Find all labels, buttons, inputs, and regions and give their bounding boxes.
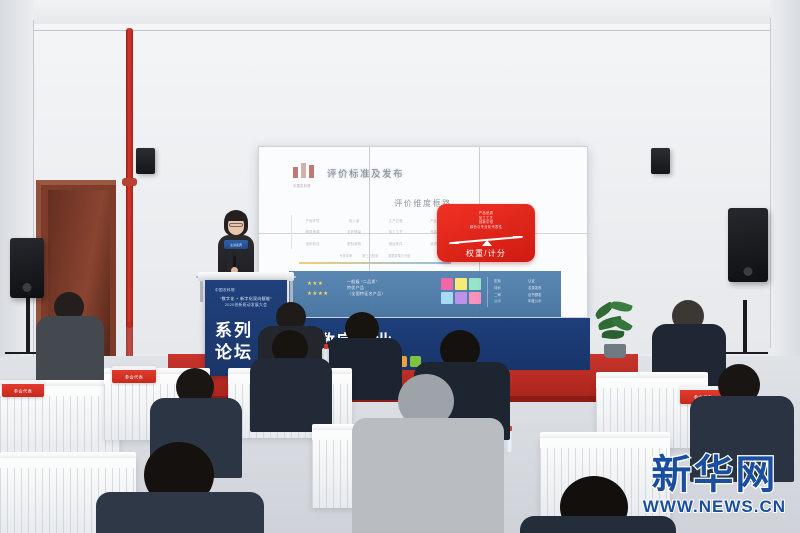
slide-footnotes: 专家评审 第三方检测 数据采集与分析 (291, 253, 459, 258)
table-cell: 品种特性 (292, 238, 334, 249)
slide-logo-icon (293, 165, 319, 182)
band-divider (487, 277, 488, 307)
table-cell: 储运条件 (375, 238, 417, 249)
floor-speaker-left (10, 238, 44, 298)
microphone-flag-text: 主讲嘉宾 (225, 243, 247, 247)
swatch (469, 292, 481, 304)
band-text: （全国特征名产品） (347, 291, 386, 297)
plant-pot (604, 344, 626, 358)
process-item: 定标 (494, 279, 522, 285)
wall-corner-right (770, 18, 771, 348)
swatch (441, 278, 453, 290)
wall-corner-left (33, 20, 34, 360)
slide-logo-subtext: 中国农科院 (293, 183, 311, 188)
process-item: 年度公示 (528, 299, 556, 305)
slide-criteria-table: 产地环境 投入品 生产过程 产品质量 种质资源 农药残留 加工工艺 包装标识 品… (291, 215, 459, 249)
standpipe-valve (122, 178, 137, 186)
name-placard: 参会代表 (112, 366, 156, 383)
podium-headline-2: 论坛 (215, 338, 253, 363)
slide-accent-underline (299, 262, 451, 264)
footnote: 专家评审 (340, 253, 353, 258)
presenter-glasses (229, 223, 243, 227)
table-cell: 投入品 (334, 215, 376, 226)
wall-speaker-right (651, 148, 670, 174)
table-cell: 生产过程 (375, 215, 417, 226)
podium-line-2: 2020创新驱动发展大会 (205, 303, 287, 308)
process-item: 证书颁发 (528, 293, 556, 299)
podium-line-1: “数字化 + 新字化双向赋能” (205, 296, 287, 302)
process-item: 名录发布 (528, 286, 556, 292)
table-cell: 产地环境 (292, 215, 334, 226)
process-item: 二审 (494, 293, 522, 299)
table-cell: 种质资源 (292, 226, 334, 237)
swatch (441, 292, 453, 304)
color-swatch-grid (441, 278, 481, 304)
slide-title: 评价标准及发布 (327, 166, 404, 180)
speaker-stand-pole (743, 300, 747, 354)
swatch (455, 292, 467, 304)
process-item: 认证 (528, 279, 556, 285)
podium-logo-text: 中国农科院 (215, 288, 235, 293)
swatch (469, 278, 481, 290)
wall-speaker-left (136, 148, 155, 174)
process-item: 评价 (494, 286, 522, 292)
star-ratings: ★★★ ★★★★ (307, 279, 329, 300)
conference-photo: 中国农科院 评价标准及发布 评价维度框路 产地环境 投入品 生产过程 产品质量 … (0, 0, 800, 533)
callout-caption: 权重/计分 (437, 248, 535, 259)
footnote: 数据采集与分析 (388, 253, 410, 258)
table-cell: 农药残留 (334, 226, 376, 237)
callout-lines: 产品品质 加工工艺 创新引领 绿色与专业化代表性 (437, 211, 535, 230)
process-item: 公示 (494, 299, 522, 305)
potted-plant (592, 300, 638, 358)
slide-bottom-band: ★★★ ★★★★ 一般级 “二品质” 特优产品 （全国特征名产品） 定标 认证 … (289, 271, 561, 318)
stars-four: ★★★★ (307, 289, 329, 299)
right-wall (770, 0, 800, 400)
podium-leg (200, 280, 203, 302)
footnote: 第三方检测 (362, 253, 378, 258)
swatch (455, 278, 467, 290)
balance-scale-icon (449, 235, 523, 245)
speaker-stand-pole (26, 290, 30, 354)
video-wall[interactable]: 中国农科院 评价标准及发布 评价维度框路 产地环境 投入品 生产过程 产品质量 … (258, 146, 588, 318)
callout-line: 绿色与专业化代表性 (437, 225, 535, 230)
table-cell: 肥料使用 (334, 238, 376, 249)
slide-weighting-callout: 产品品质 加工工艺 创新引领 绿色与专业化代表性 权重/计分 (437, 204, 535, 262)
stars-three: ★★★ (307, 279, 329, 289)
floor-speaker-right (728, 208, 768, 282)
band-process-list: 定标 认证 评价 名录发布 二审 证书颁发 公示 年度公示 (494, 279, 556, 305)
band-texts: 一般级 “二品质” 特优产品 （全国特征名产品） (347, 279, 386, 298)
name-placard: 参会代表 (2, 380, 44, 397)
table-cell: 加工工艺 (375, 226, 417, 237)
presenter-fringe (225, 212, 247, 221)
slide-subtitle: 评价维度框路 (259, 198, 587, 209)
podium-leg (290, 280, 293, 302)
ceiling-wall-seam (24, 30, 782, 31)
